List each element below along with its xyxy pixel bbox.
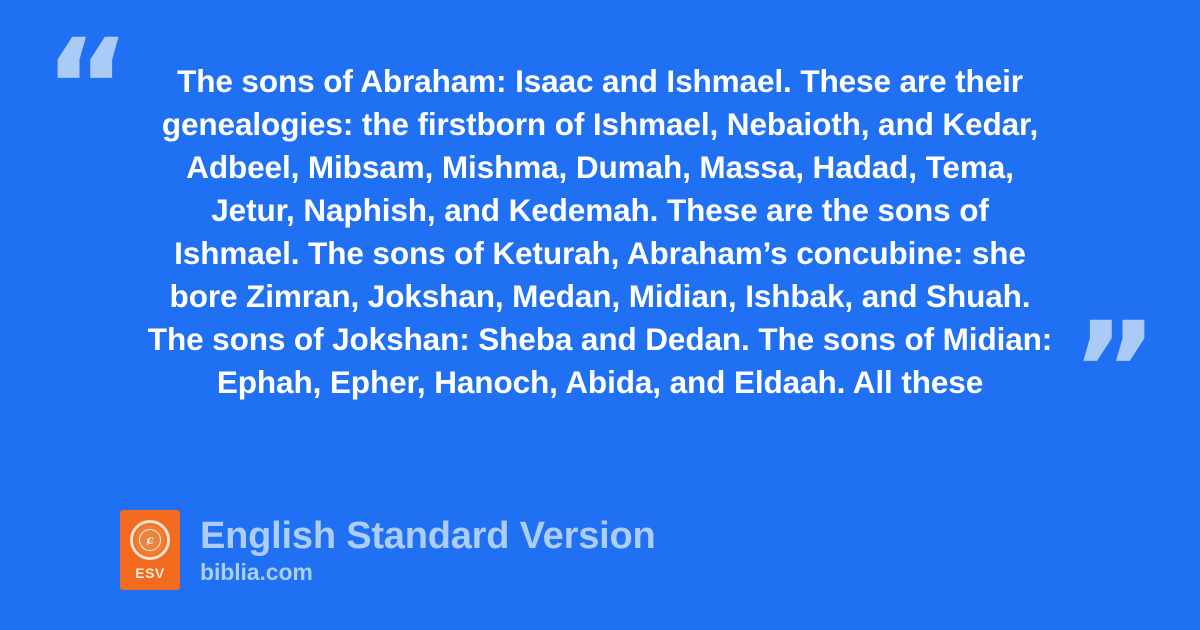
- attribution-footer: ɕ ESV English Standard Version biblia.co…: [120, 510, 656, 590]
- site-url-label: biblia.com: [200, 558, 656, 586]
- quote-card: “ The sons of Abraham: Isaac and Ishmael…: [0, 0, 1200, 630]
- quote-line: Ishmael. The sons of Keturah, Abraham’s …: [120, 232, 1080, 275]
- esv-badge-label: ESV: [135, 566, 165, 580]
- quote-line: Adbeel, Mibsam, Mishma, Dumah, Massa, Ha…: [120, 146, 1080, 189]
- esv-badge: ɕ ESV: [120, 510, 180, 590]
- quote-text-block: The sons of Abraham: Isaac and Ishmael. …: [120, 60, 1080, 404]
- close-quote-icon: ”: [1071, 305, 1158, 437]
- quote-line: Ephah, Epher, Hanoch, Abida, and Eldaah.…: [120, 361, 1080, 404]
- open-quote-icon: “: [44, 22, 131, 154]
- quote-line: The sons of Jokshan: Sheba and Dedan. Th…: [120, 318, 1080, 361]
- quote-line: genealogies: the firstborn of Ishmael, N…: [120, 103, 1080, 146]
- quote-line: Jetur, Naphish, and Kedemah. These are t…: [120, 189, 1080, 232]
- attribution-text: English Standard Version biblia.com: [200, 514, 656, 586]
- quote-line: The sons of Abraham: Isaac and Ishmael. …: [120, 60, 1080, 103]
- bible-version-title: English Standard Version: [200, 514, 656, 558]
- esv-seal-glyph: ɕ: [146, 534, 153, 546]
- esv-seal-icon: ɕ: [130, 520, 170, 560]
- esv-seal-inner: ɕ: [139, 529, 161, 551]
- quote-line: bore Zimran, Jokshan, Medan, Midian, Ish…: [120, 275, 1080, 318]
